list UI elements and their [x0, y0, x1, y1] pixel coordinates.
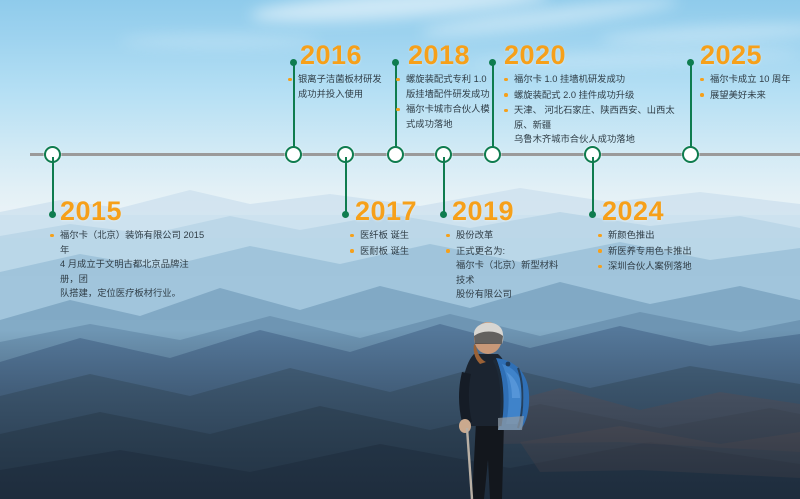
timeline-bullet: 福尔卡成立 10 周年	[700, 72, 798, 87]
timeline-year-2025: 2025	[700, 42, 762, 69]
timeline-bullet: 螺旋装配式专利 1.0 版挂墙配件研发成功	[396, 72, 500, 101]
timeline-bullet: 银离子洁菌板材研发 成功并投入使用	[288, 72, 383, 101]
timeline-details-2020: 福尔卡 1.0 挂墙机研发成功 螺旋装配式 2.0 挂件成功升级 天津、 河北石…	[504, 72, 689, 148]
timeline-year-2015: 2015	[60, 198, 122, 225]
timeline-stem-2020	[492, 62, 495, 148]
timeline-bullet: 医纤板 诞生	[350, 228, 450, 243]
timeline-bullet: 福尔卡城市合伙人模 式成功落地	[396, 102, 500, 131]
timeline-details-2025: 福尔卡成立 10 周年 展望美好未来	[700, 72, 798, 103]
timeline-infographic: 2016 银离子洁菌板材研发 成功并投入使用 2018 螺旋装配式专利 1.0 …	[0, 0, 800, 499]
timeline-year-2017: 2017	[355, 198, 417, 225]
timeline-bullet: 股份改革	[446, 228, 561, 243]
timeline-stem-2017	[345, 157, 348, 214]
timeline-bullet: 螺旋装配式 2.0 挂件成功升级	[504, 88, 689, 103]
timeline-bullet: 福尔卡（北京）装饰有限公司 2015 年 4 月成立于文明古都北京品牌注册，团 …	[50, 228, 205, 301]
timeline-marker-2020[interactable]	[484, 146, 501, 163]
timeline-year-2019: 2019	[452, 198, 514, 225]
timeline-bullet: 深圳合伙人案例落地	[598, 259, 723, 274]
timeline-marker-2016[interactable]	[285, 146, 302, 163]
timeline-bullet: 福尔卡 1.0 挂墙机研发成功	[504, 72, 689, 87]
timeline-bullet: 新医养专用色卡推出	[598, 244, 723, 259]
timeline-stem-2015	[52, 157, 55, 214]
timeline-marker-2025[interactable]	[682, 146, 699, 163]
timeline-details-2019: 股份改革 正式更名为: 福尔卡（北京）新型材料技术 股份有限公司	[446, 228, 561, 303]
timeline-bullet: 天津、 河北石家庄、陕西西安、山西太原、新疆 乌鲁木齐城市合伙人成功落地	[504, 103, 689, 147]
timeline-year-2020: 2020	[504, 42, 566, 69]
timeline-bullet: 展望美好未来	[700, 88, 798, 103]
timeline-stem-2019	[443, 157, 446, 214]
timeline-bullet: 正式更名为: 福尔卡（北京）新型材料技术 股份有限公司	[446, 244, 561, 302]
foreground-shadow	[0, 330, 800, 499]
timeline-details-2024: 新颜色推出 新医养专用色卡推出 深圳合伙人案例落地	[598, 228, 723, 275]
timeline-year-2018: 2018	[408, 42, 470, 69]
timeline-year-2024: 2024	[602, 198, 664, 225]
cloud-streak	[120, 34, 320, 48]
timeline-marker-2018[interactable]	[387, 146, 404, 163]
timeline-details-2018: 螺旋装配式专利 1.0 版挂墙配件研发成功 福尔卡城市合伙人模 式成功落地	[396, 72, 500, 132]
timeline-stem-2024	[592, 157, 595, 214]
hiker-figure	[432, 310, 552, 499]
timeline-details-2016: 银离子洁菌板材研发 成功并投入使用	[288, 72, 383, 102]
timeline-stem-2025	[690, 62, 693, 148]
timeline-details-2015: 福尔卡（北京）装饰有限公司 2015 年 4 月成立于文明古都北京品牌注册，团 …	[50, 228, 205, 302]
timeline-bullet: 医耐板 诞生	[350, 244, 450, 259]
timeline-details-2017: 医纤板 诞生 医耐板 诞生	[350, 228, 450, 259]
timeline-bullet: 新颜色推出	[598, 228, 723, 243]
timeline-year-2016: 2016	[300, 42, 362, 69]
